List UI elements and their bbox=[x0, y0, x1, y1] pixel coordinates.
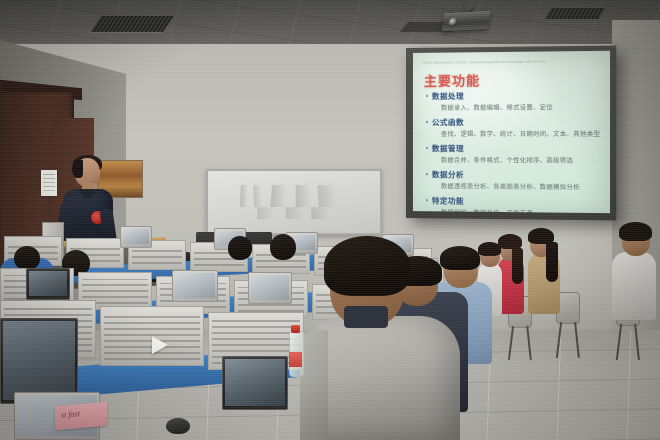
slide-detail: 数据透视表分析、各类图表分析、数据模拟分析 bbox=[441, 181, 604, 191]
slide-heading: 公式函数 bbox=[432, 117, 604, 128]
slide-header: Office Automation Course | Data Manageme… bbox=[423, 58, 602, 66]
attendee-hair bbox=[440, 246, 480, 270]
whiteboard-writing bbox=[238, 185, 348, 207]
computer-mouse bbox=[166, 418, 190, 434]
lab-monitor bbox=[172, 270, 218, 302]
attendee-hair bbox=[619, 222, 652, 241]
whiteboard bbox=[206, 169, 382, 235]
presenter-hair-side bbox=[72, 160, 83, 178]
attendee-arm bbox=[300, 330, 328, 440]
projection-screen: Office Automation Course | Data Manageme… bbox=[406, 46, 616, 221]
attendee-hair bbox=[324, 236, 410, 296]
ceiling-projector-icon bbox=[441, 11, 490, 31]
attendee-head bbox=[270, 234, 296, 260]
posted-notice bbox=[41, 170, 57, 196]
slide-detail: 数据录入、数据编辑、格式设置、定位 bbox=[441, 102, 604, 112]
lab-monitor-foreground bbox=[222, 356, 288, 410]
slide-detail: 查找、逻辑、数学、统计、日期时间、文本、其他类型 bbox=[441, 129, 604, 138]
attendee-hair-long bbox=[512, 248, 523, 284]
attendee-head bbox=[228, 236, 252, 260]
sticker-text: st fast bbox=[61, 409, 80, 420]
attendee-hair bbox=[478, 242, 501, 256]
classroom-photo: Office Automation Course | Data Manageme… bbox=[0, 0, 660, 440]
slide-detail: 数据合并、条件格式、个性化排序、高级筛选 bbox=[441, 155, 604, 165]
slide-detail: 数据保护、数据共享、开发工具 bbox=[441, 207, 604, 213]
paper-sheet bbox=[152, 336, 168, 354]
projector-lens-icon bbox=[448, 17, 459, 26]
air-vent-secondary-icon bbox=[545, 8, 605, 19]
whiteboard-writing-secondary bbox=[252, 207, 336, 219]
lab-monitor bbox=[26, 268, 70, 300]
desk-sticker: st fast bbox=[55, 402, 107, 431]
lab-monitor bbox=[248, 272, 292, 304]
bottle-cap bbox=[291, 325, 300, 333]
screen-surface: Office Automation Course | Data Manageme… bbox=[413, 51, 610, 213]
attendee-head bbox=[14, 246, 40, 270]
attendee-hair bbox=[498, 234, 522, 249]
lab-monitor bbox=[120, 226, 152, 248]
attendee-hair-long bbox=[546, 242, 558, 282]
attendee-torso bbox=[612, 252, 656, 320]
slide-body: 数据处理 数据录入、数据编辑、格式设置、定位 公式函数 查找、逻辑、数学、统计、… bbox=[425, 90, 604, 213]
air-vent-icon bbox=[91, 16, 174, 32]
slide-heading: 数据分析 bbox=[432, 169, 604, 181]
bottle-label bbox=[289, 352, 302, 367]
slide-heading: 特定功能 bbox=[432, 195, 604, 208]
slide-title: 主要功能 bbox=[424, 70, 480, 90]
attendee-collar bbox=[344, 306, 388, 328]
notice-lines bbox=[43, 174, 55, 175]
slide-heading: 数据管理 bbox=[432, 143, 604, 155]
slide-heading: 数据处理 bbox=[432, 90, 604, 102]
